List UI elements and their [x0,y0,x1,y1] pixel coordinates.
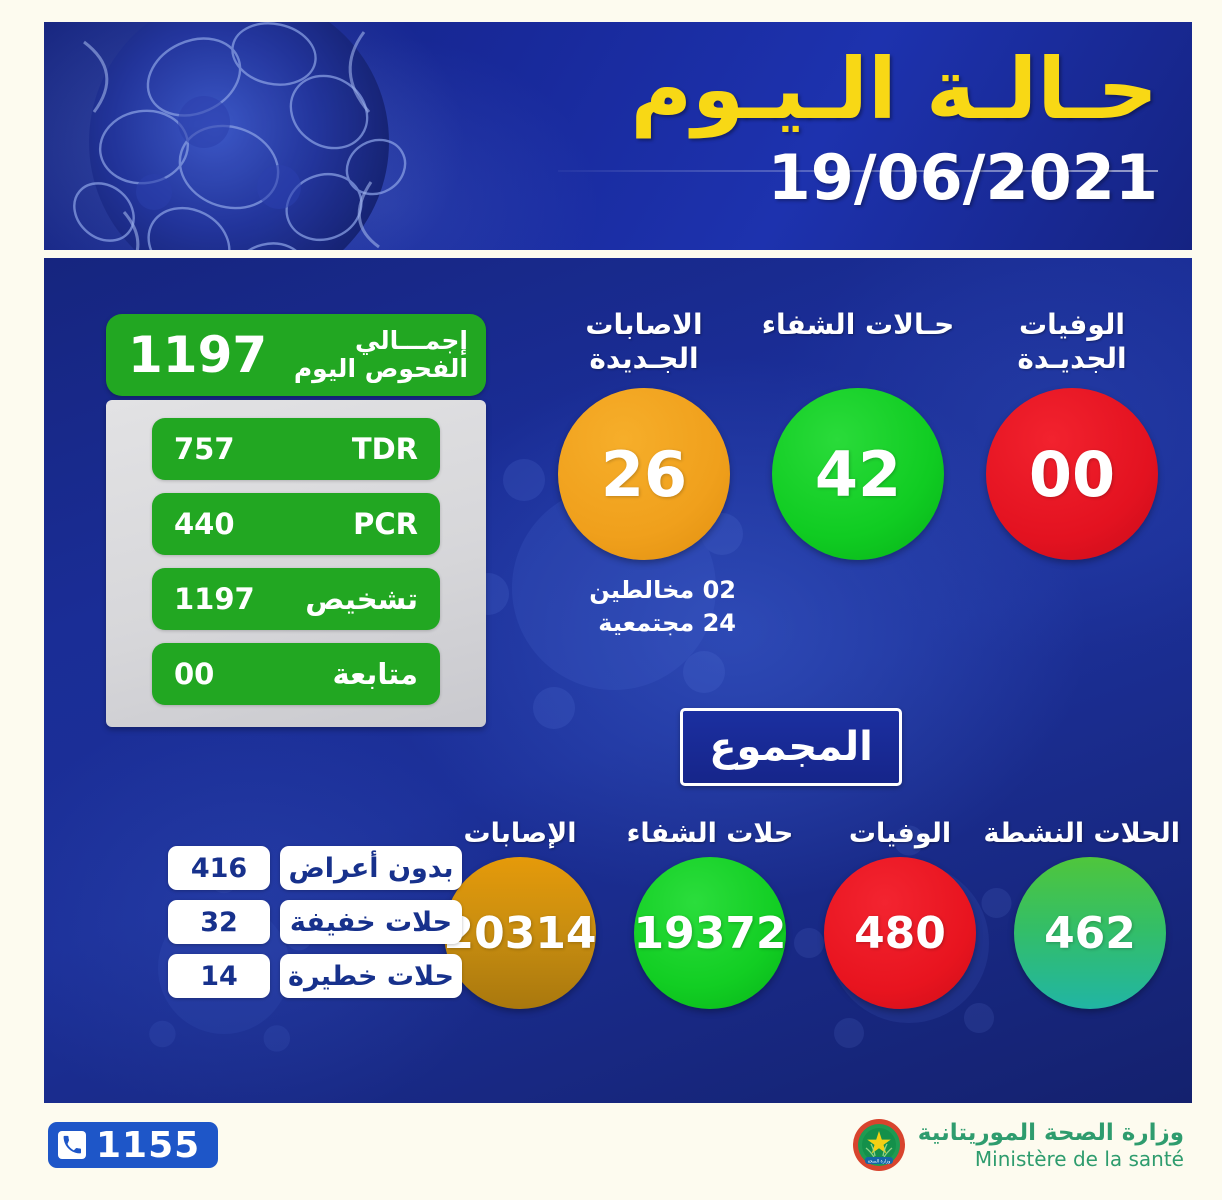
total-section-banner: المجموع [680,708,902,786]
test-row: PCR 440 [152,493,440,555]
cumulative-stat-value: 480 [824,857,976,1009]
community-count: 24 مجتمعية [546,607,736,640]
ministry-name-french: Ministère de la santé [918,1147,1184,1171]
tests-breakdown-card: TDR 757 PCR 440 تشخيص 1197 متابعة 00 [106,400,486,727]
test-row-label: TDR [352,432,418,466]
cumulative-stat-label: الوفيات [810,818,990,849]
daily-stat-new-recoveries: حـالات الشفاء 42 [760,308,956,640]
cumulative-stat-total-deaths: الوفيات 480 [810,818,990,1009]
test-row-value: 757 [174,432,235,466]
ministry-name-arabic: وزارة الصحة الموريتانية [918,1119,1184,1147]
severity-breakdown-block: بدون أعراض 416 حلات خفيفة 32 حلات خطيرة … [162,846,462,1008]
daily-stat-label: حـالات الشفاء [760,308,956,380]
severity-row-value: 32 [168,900,270,944]
infographic-poster: حـالـة الـيـوم 19/06/2021 إجمـــالي الفح… [0,0,1222,1200]
daily-stat-new-deaths: الوفيات الجديـدة 00 [974,308,1170,640]
cumulative-stat-value: 19372 [634,857,786,1009]
severity-row-label: حلات خطيرة [280,954,462,998]
cumulative-stat-label: الحلات النشطة [1000,818,1180,849]
cumulative-stat-active-cases: الحلات النشطة 462 [1000,818,1180,1009]
tests-summary-block: إجمـــالي الفحوص اليوم 1197 TDR 757 PCR … [106,314,486,727]
test-row-label: PCR [353,507,418,541]
severity-row-label: حلات خفيفة [280,900,462,944]
daily-stats-row: الوفيات الجديـدة 00 حـالات الشفاء 42 الا… [546,308,1170,640]
cumulative-stat-label: حلات الشفاء [620,818,800,849]
tests-total-header: إجمـــالي الفحوص اليوم 1197 [106,314,486,396]
infection-source-breakdown: 02 مخالطين 24 مجتمعية [546,574,742,640]
cumulative-stat-total-recoveries: حلات الشفاء 19372 [620,818,800,1009]
phone-icon [58,1131,86,1159]
tests-total-label: إجمـــالي الفحوص اليوم [267,327,468,383]
hotline-badge[interactable]: 1155 [48,1122,218,1168]
severity-row: بدون أعراض 416 [162,846,462,890]
test-row-label: متابعة [332,657,418,691]
severity-row-value: 416 [168,846,270,890]
test-row: تشخيص 1197 [152,568,440,630]
mauritania-health-ministry-emblem-icon: وزارة الصحة [852,1118,906,1172]
report-date: 19/06/2021 [518,142,1158,213]
test-row-value: 1197 [174,582,255,616]
daily-stat-value: 26 [558,388,730,560]
tests-total-value: 1197 [128,326,267,384]
header-banner: حـالـة الـيـوم 19/06/2021 [44,22,1192,250]
hotline-number: 1155 [96,1125,200,1166]
contacts-count: 02 مخالطين [546,574,736,607]
daily-stat-label: الاصابات الجـديدة [546,308,742,380]
total-banner-label: المجموع [709,724,873,770]
daily-stat-label: الوفيات الجديـدة [974,308,1170,380]
page-title: حـالـة الـيـوم [518,38,1158,140]
test-row: متابعة 00 [152,643,440,705]
header-text-group: حـالـة الـيـوم 19/06/2021 [518,38,1158,214]
severity-row-value: 14 [168,954,270,998]
test-row-value: 00 [174,657,214,691]
cumulative-stat-value: 462 [1014,857,1166,1009]
severity-row-label: بدون أعراض [280,846,462,890]
svg-text:وزارة الصحة: وزارة الصحة [867,1160,890,1165]
footer-bar: 1155 وزارة الصحة الموريتانية Ministère d… [44,1118,1192,1180]
coronavirus-illustration-icon [44,22,564,250]
ministry-branding: وزارة الصحة الموريتانية Ministère de la … [852,1118,1184,1172]
test-row: TDR 757 [152,418,440,480]
main-panel: إجمـــالي الفحوص اليوم 1197 TDR 757 PCR … [44,258,1192,1103]
daily-stat-value: 00 [986,388,1158,560]
cumulative-stat-label: الإصابات [430,818,610,849]
daily-stat-value: 42 [772,388,944,560]
cumulative-stat-value: 20314 [444,857,596,1009]
severity-row: حلات خطيرة 14 [162,954,462,998]
test-row-value: 440 [174,507,235,541]
cumulative-stats-row: الحلات النشطة 462 الوفيات 480 حلات الشفا… [430,818,1180,1009]
test-row-label: تشخيص [305,582,418,616]
daily-stat-new-infections: الاصابات الجـديدة 26 02 مخالطين 24 مجتمع… [546,308,742,640]
severity-row: حلات خفيفة 32 [162,900,462,944]
ministry-text-group: وزارة الصحة الموريتانية Ministère de la … [918,1119,1184,1171]
